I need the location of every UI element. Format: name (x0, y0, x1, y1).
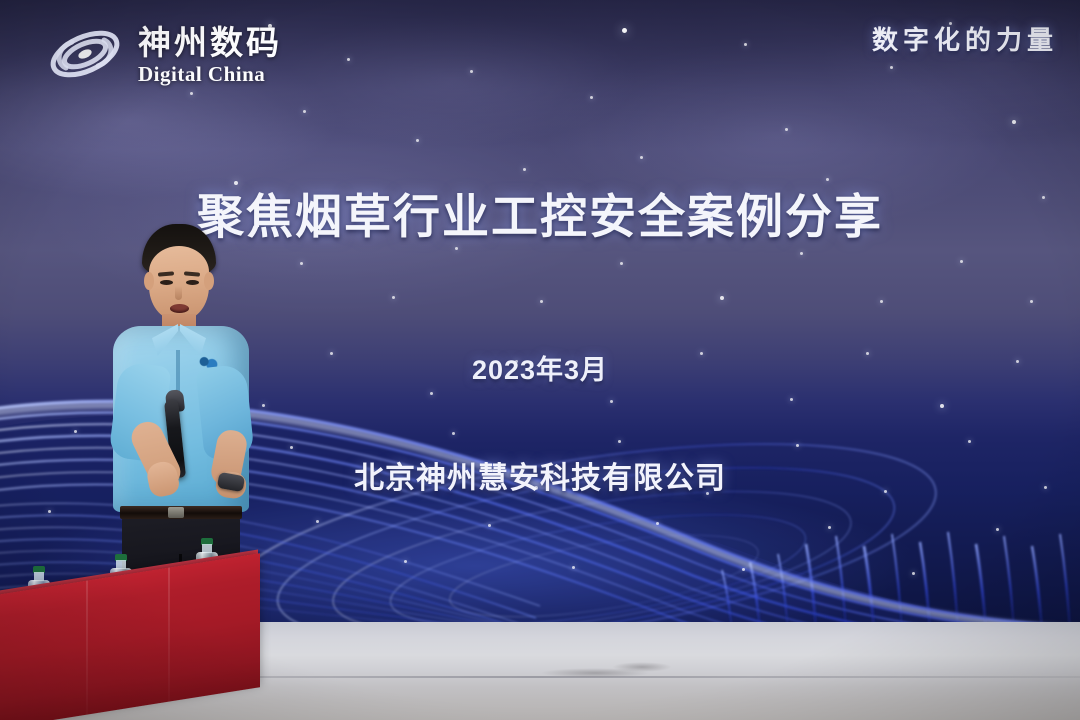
speaker-eye-left (160, 280, 173, 285)
particle-dot (455, 247, 458, 250)
speaker-eye-right (186, 280, 199, 285)
particle-dot (744, 43, 747, 46)
particle-dot (416, 139, 419, 142)
brand-name-en: Digital China (138, 64, 282, 85)
particle-dot (523, 168, 526, 171)
particle-dot (392, 296, 395, 299)
speaker-nose (175, 286, 182, 300)
particle-dot (720, 296, 724, 300)
event-subtitle: 数字化的力量 (872, 20, 1058, 57)
speaker-ear-left (144, 272, 154, 290)
particle-dot (800, 252, 803, 255)
particle-dot (190, 92, 193, 95)
brand-name-cn: 神州数码 (138, 26, 282, 59)
stage-photo: 聚焦烟草行业工控安全案例分享 2023年3月 北京神州慧安科技有限公司 神州数码 (0, 0, 1080, 720)
floor-scuff-mark (612, 662, 672, 672)
particle-dot (303, 110, 306, 113)
particle-dot (300, 262, 303, 265)
speaker-mouth (170, 304, 189, 313)
particle-dot (880, 300, 883, 303)
table-drape-fold (86, 580, 88, 714)
digital-china-swirl-logo-icon (46, 20, 124, 90)
brand-logo-digital-china: 神州数码 Digital China (46, 20, 282, 90)
particle-dot (785, 128, 788, 131)
particle-dot (1030, 300, 1033, 303)
particle-dot (622, 28, 627, 33)
particle-dot (347, 58, 350, 61)
particle-dot (890, 66, 893, 69)
brand-text-block: 神州数码 Digital China (138, 26, 282, 85)
particle-dot (640, 156, 643, 159)
speaker-ear-right (204, 272, 214, 290)
particle-dot (1012, 120, 1016, 124)
table-drape-fold (168, 567, 170, 701)
particle-dot (470, 70, 473, 73)
particle-dot (590, 96, 593, 99)
particle-dot (620, 262, 623, 265)
speaker-belt-buckle (168, 507, 184, 518)
particle-dot (540, 300, 543, 303)
event-logo: 聚 合 数字化的力量 (872, 18, 1058, 57)
particle-dot (960, 260, 963, 263)
